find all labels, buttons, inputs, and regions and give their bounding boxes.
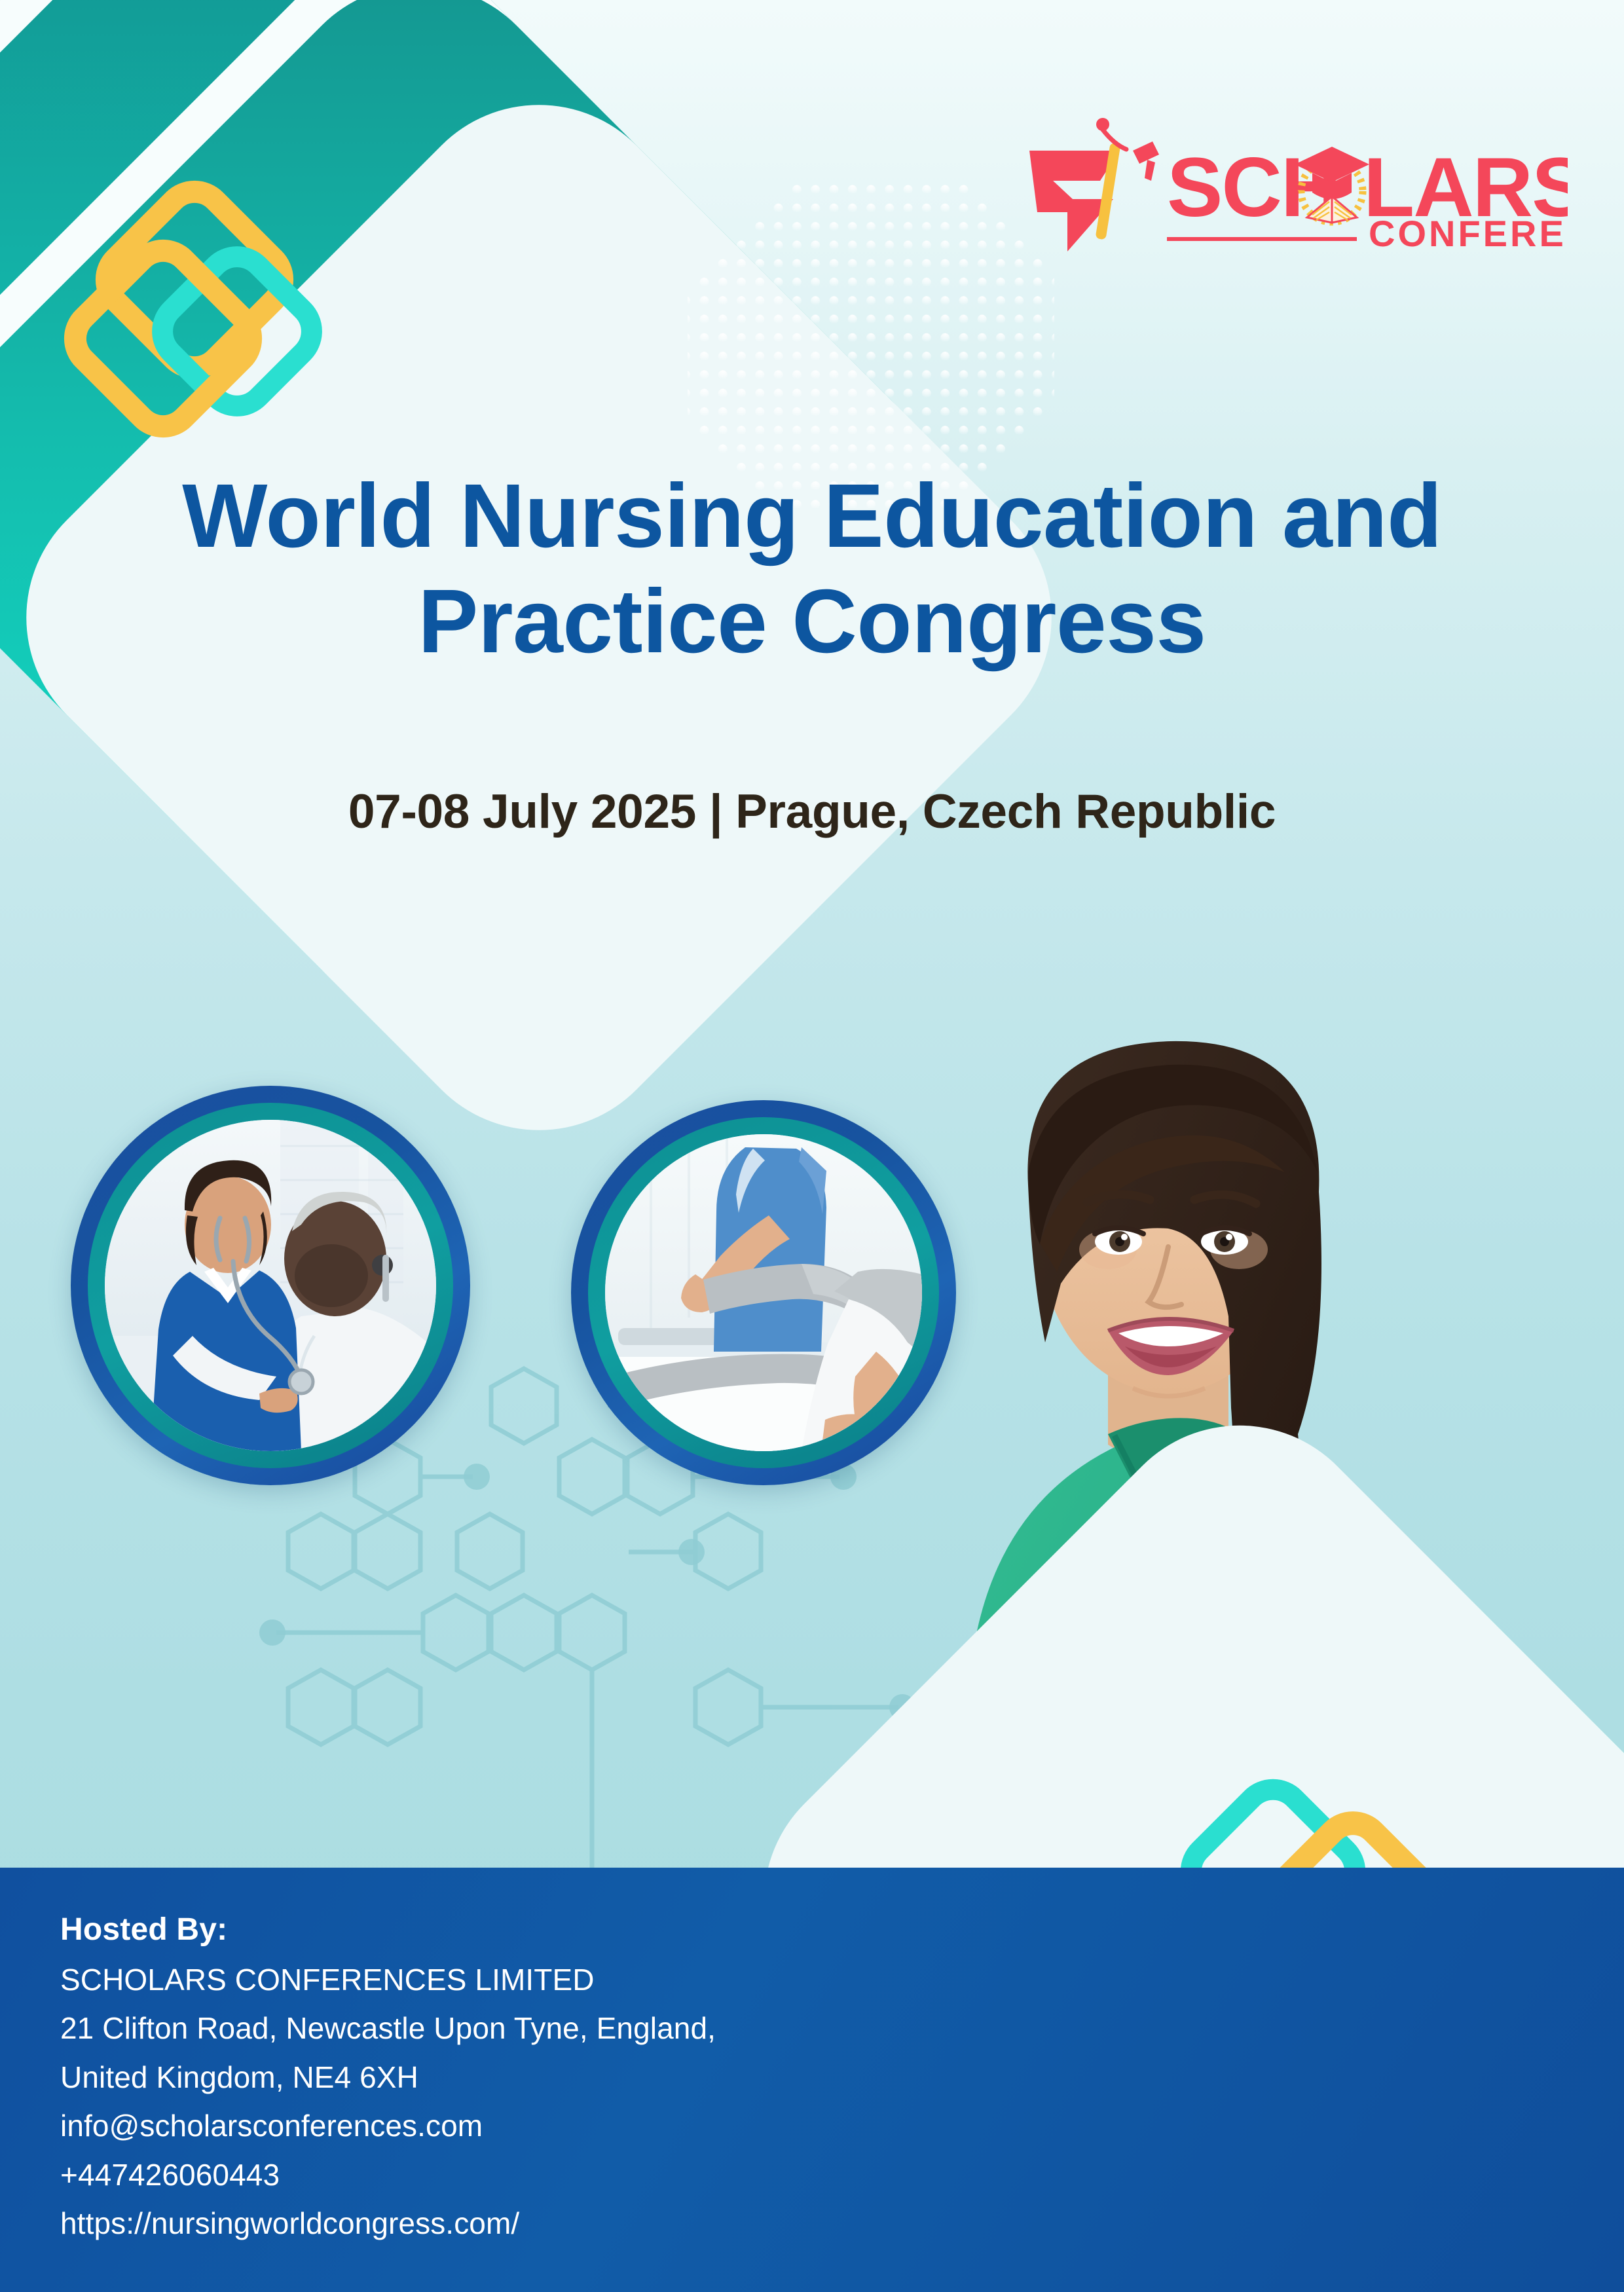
medallion-photo-2 — [605, 1134, 922, 1451]
address-line-1: 21 Clifton Road, Newcastle Upon Tyne, En… — [60, 2004, 938, 2053]
contact-phone[interactable]: +447426060443 — [60, 2151, 938, 2200]
medallion-photo-1 — [105, 1120, 436, 1451]
footer-band: Hosted By: SCHOLARS CONFERENCES LIMITED … — [0, 1868, 1624, 2292]
contact-block: Hosted By: SCHOLARS CONFERENCES LIMITED … — [60, 1904, 938, 2248]
logo-rule — [1167, 237, 1357, 241]
title-line-1: World Nursing Education and — [111, 464, 1513, 569]
contact-email[interactable]: info@scholarsconferences.com — [60, 2101, 938, 2151]
organization-name: SCHOLARS CONFERENCES LIMITED — [60, 1955, 938, 2005]
logo-tagline-text: CONFERENCES — [1369, 213, 1568, 254]
page-title: World Nursing Education and Practice Con… — [0, 464, 1624, 675]
hosted-by-label: Hosted By: — [60, 1904, 938, 1955]
website-url[interactable]: https://nursingworldcongress.com/ — [60, 2199, 938, 2248]
address-line-2: United Kingdom, NE4 6XH — [60, 2053, 938, 2102]
scholars-conferences-logo: SCH LARS CONFERENCES — [1005, 113, 1568, 263]
conference-poster: SCH LARS CONFERENCES World Nursing Educa… — [0, 0, 1624, 2292]
medallion-nurse-examining-patient — [71, 1086, 470, 1485]
medallion-physiotherapy-stretch — [571, 1100, 956, 1485]
title-line-2: Practice Congress — [111, 569, 1513, 675]
event-date-location: 07-08 July 2025 | Prague, Czech Republic — [0, 785, 1624, 839]
podium-icon — [1029, 118, 1159, 251]
